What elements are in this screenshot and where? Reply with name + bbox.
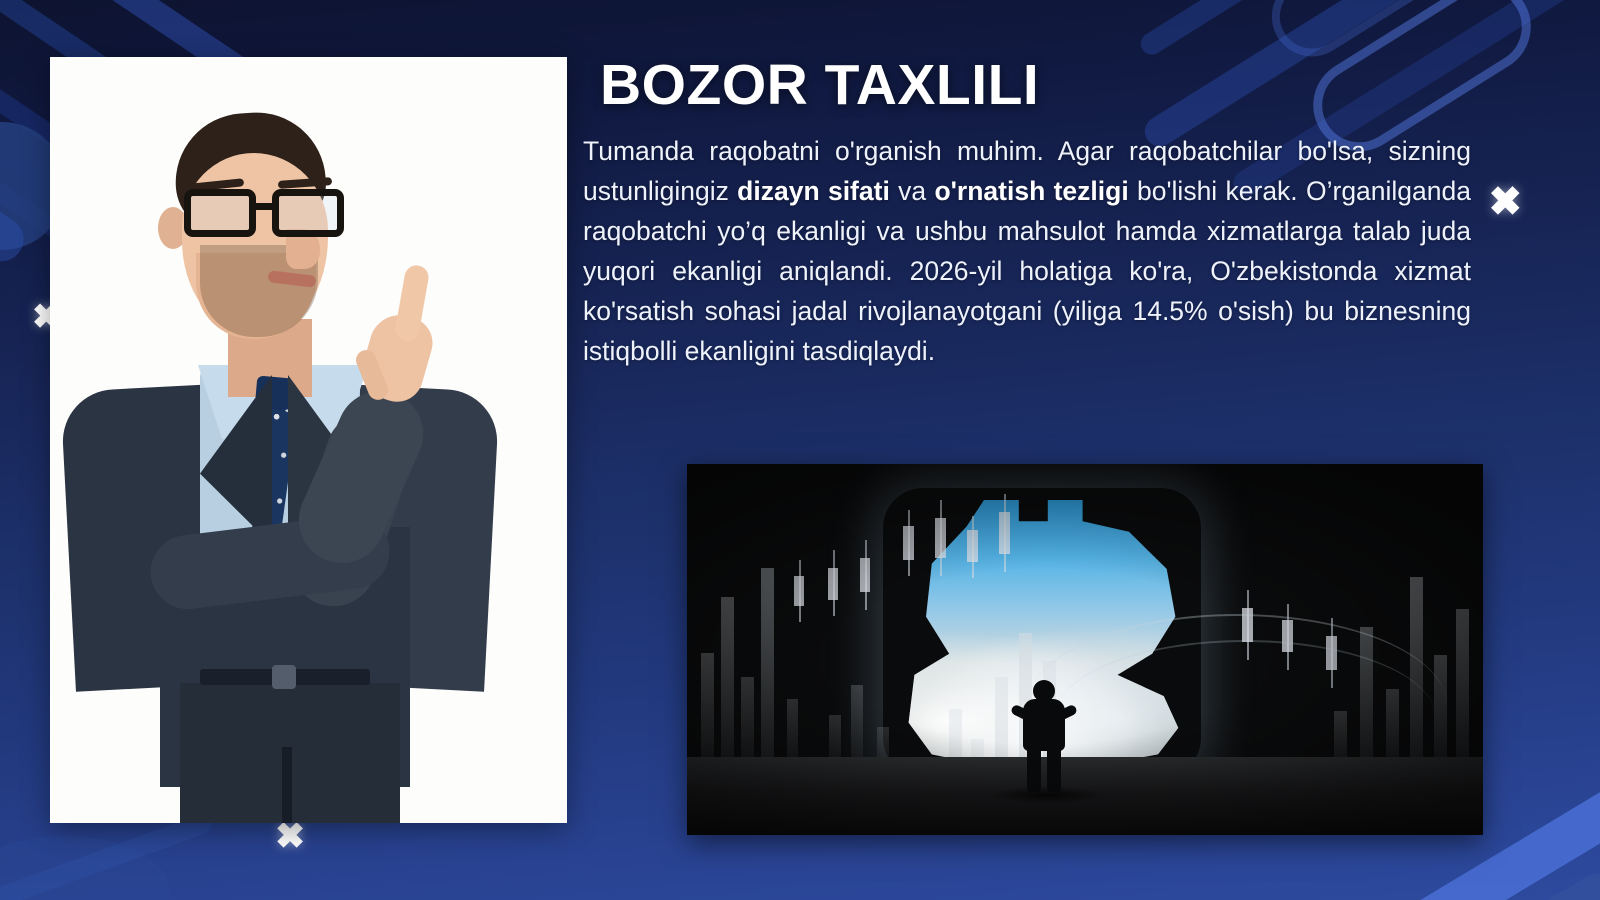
glasses-lens-right — [272, 189, 344, 237]
decor-blob-bottom-left — [0, 836, 170, 900]
businessman-illustration — [50, 57, 567, 823]
businessman-photo — [50, 57, 567, 823]
financial-growth-image — [687, 464, 1483, 835]
candle-body — [794, 576, 804, 606]
candle-body — [967, 530, 978, 562]
glasses-bridge — [254, 203, 274, 210]
body-paragraph: Tumanda raqobatni o'rganish muhim. Agar … — [583, 131, 1471, 371]
highlight-ornatish-tezligi: o'rnatish tezligi — [934, 176, 1128, 206]
trouser-leg-gap — [282, 747, 292, 823]
body-segment-3: va — [890, 176, 935, 206]
person-silhouette — [1013, 680, 1075, 792]
decor-blob-top-left-2 — [0, 166, 32, 270]
candle-body — [828, 568, 838, 600]
businessman-photo-card — [50, 57, 567, 823]
glasses-lens-left — [184, 189, 256, 237]
belt-buckle — [272, 665, 296, 689]
sparkle-cross-bottom-icon: ✖ — [275, 818, 305, 854]
silhouette-leg-right — [1047, 746, 1061, 792]
chart-bar — [701, 653, 714, 773]
eyeglasses-icon — [184, 189, 352, 237]
presentation-slide: ✖ ✖ ✖ — [0, 0, 1600, 900]
silhouette-torso — [1023, 699, 1065, 751]
chart-bar — [761, 568, 774, 773]
sparkle-cross-right-icon: ✖ — [1488, 182, 1522, 222]
page-title: BOZOR TAXLILI — [600, 52, 1039, 118]
candle-body — [935, 518, 946, 558]
highlight-dizayn-sifati: dizayn sifati — [737, 176, 890, 206]
candle-body — [860, 558, 870, 592]
chart-bar — [1456, 609, 1469, 773]
chart-bar — [721, 597, 734, 773]
candle-body — [999, 512, 1010, 554]
candle-body — [903, 526, 914, 560]
silhouette-leg-left — [1027, 746, 1041, 792]
decor-stripe-bottom-left — [0, 811, 214, 900]
